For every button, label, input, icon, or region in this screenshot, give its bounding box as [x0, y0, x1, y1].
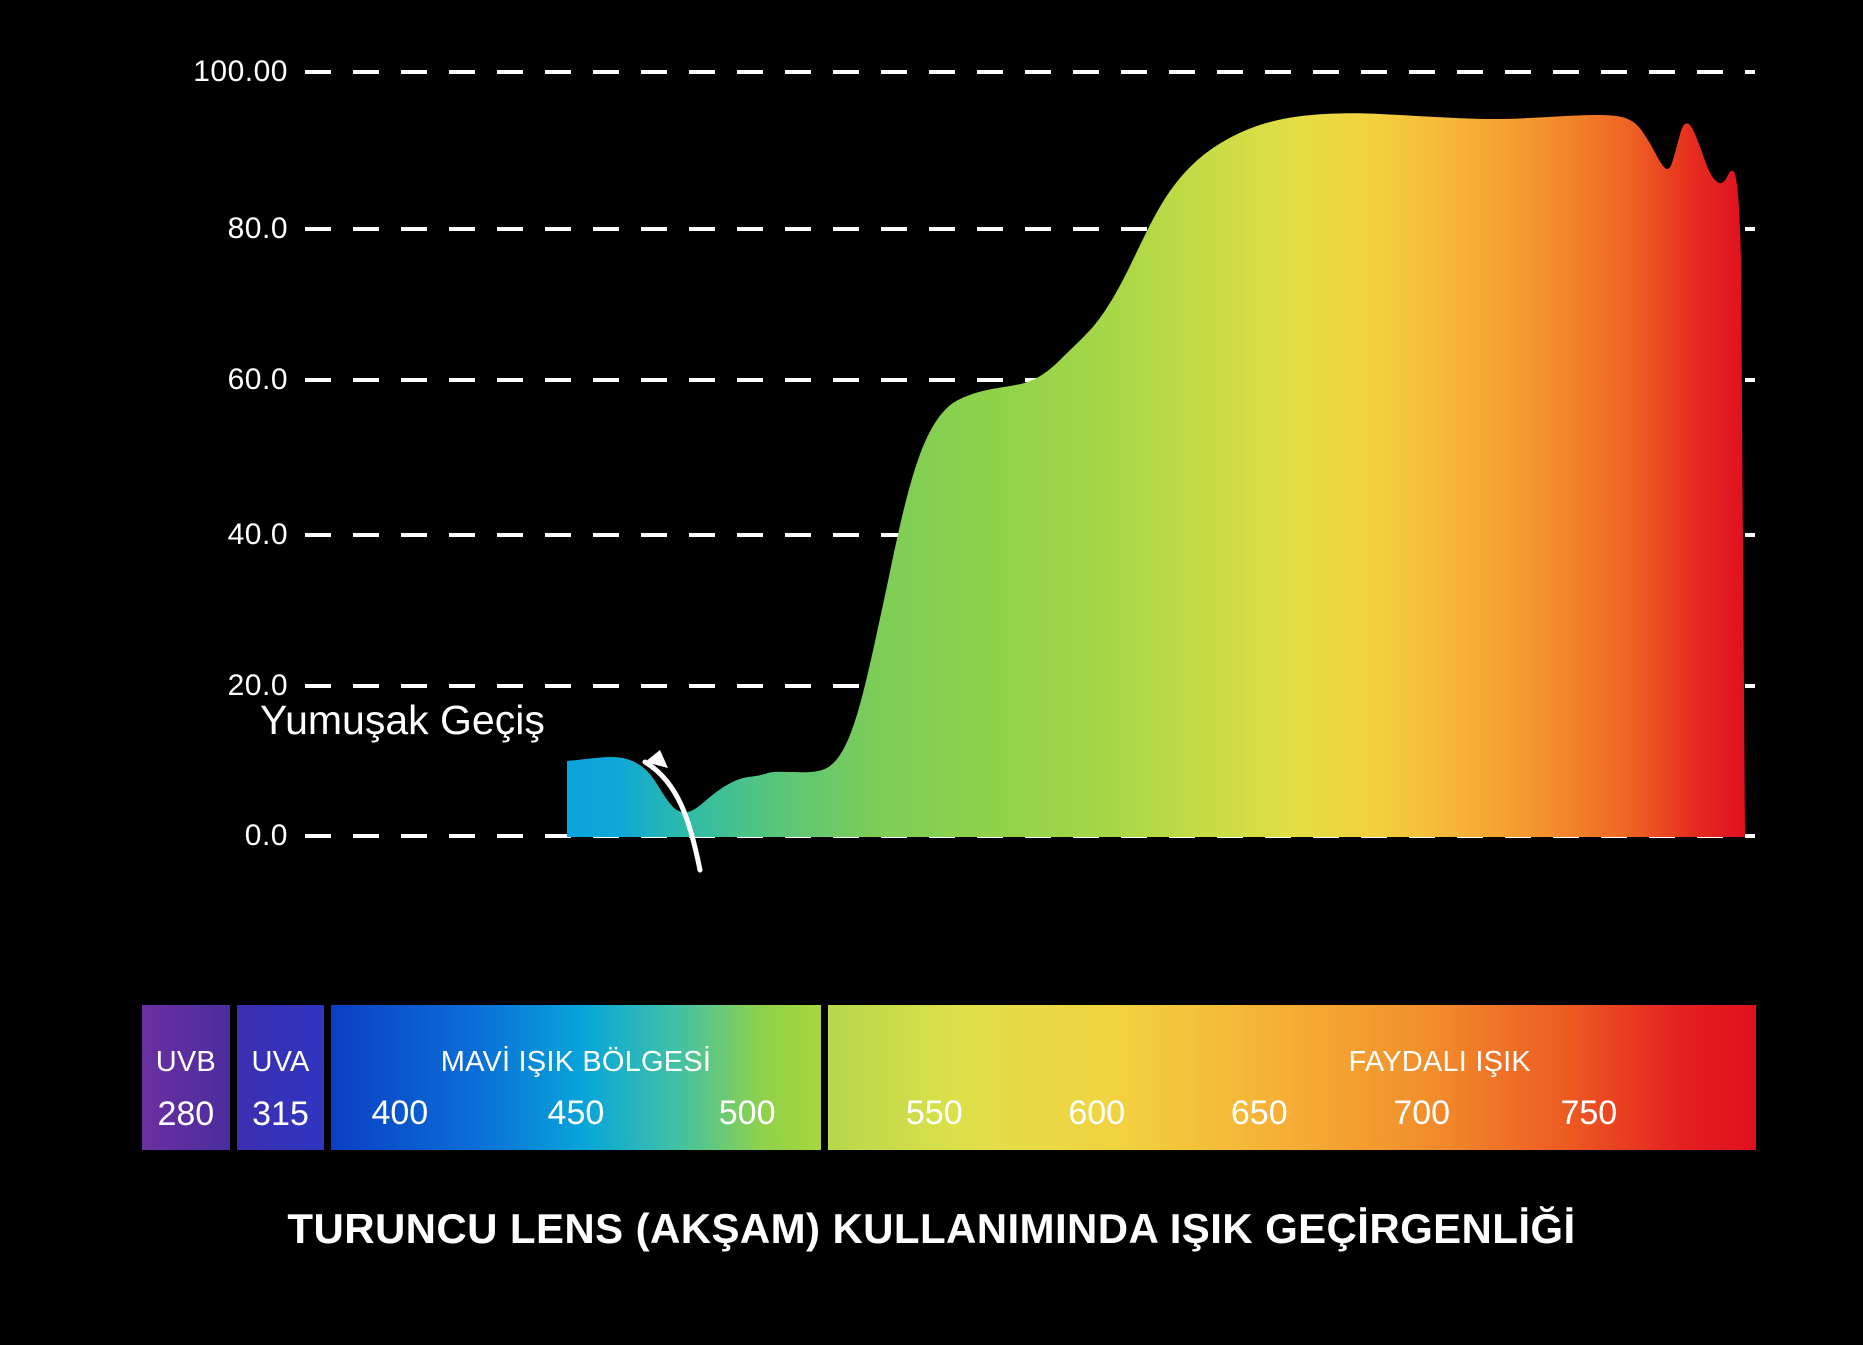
y-tick-label-100: 100.00	[193, 55, 288, 89]
y-tick-label-60: 60.0	[228, 363, 288, 397]
spectrum-tick-450: 450	[548, 1094, 605, 1133]
spectrum-band-uva-label: UVA	[237, 1046, 325, 1079]
gridline-20	[305, 684, 1755, 688]
chart-title: TURUNCU LENS (AKŞAM) KULLANIMINDA IŞIK G…	[0, 1205, 1863, 1253]
spectrum-band-uvb-value: 280	[142, 1095, 230, 1134]
spectrum-band-uva-value: 315	[237, 1095, 325, 1134]
gridline-40	[305, 533, 1755, 537]
spectrum-tick-750: 750	[1560, 1094, 1617, 1133]
y-tick-label-80: 80.0	[228, 212, 288, 246]
spectrum-band-uva[interactable]: UVA 315	[237, 1005, 325, 1150]
gridline-80	[305, 227, 1755, 231]
annotation-label-soft-transition: Yumuşak Geçiş	[260, 697, 545, 744]
spectrum-band-blue-light-label: MAVİ IŞIK BÖLGESİ	[331, 1046, 820, 1079]
spectrum-tick-650: 650	[1231, 1094, 1288, 1133]
spectrum-tick-600: 600	[1068, 1094, 1125, 1133]
soft-transition-arrow	[645, 750, 700, 870]
spectrum-band-beneficial-light-label: FAYDALI IŞIK	[976, 1046, 1757, 1079]
y-tick-label-40: 40.0	[228, 518, 288, 552]
spectrum-band-uvb[interactable]: UVB 280	[142, 1005, 230, 1150]
gridline-0	[305, 834, 1755, 838]
spectrum-band-beneficial-light-ticks: 550 600 650 700 750	[828, 1094, 1757, 1134]
spectrum-tick-400: 400	[371, 1094, 428, 1133]
spectrum-tick-550: 550	[906, 1094, 963, 1133]
gridline-100	[305, 70, 1755, 74]
spectrum-band-beneficial-light[interactable]: FAYDALI IŞIK 550 600 650 700 750	[828, 1005, 1757, 1150]
spectrum-band-blue-light[interactable]: MAVİ IŞIK BÖLGESİ 400 450 500	[331, 1005, 820, 1150]
spectrum-band-uvb-label: UVB	[142, 1046, 230, 1079]
transmission-area	[567, 113, 1745, 837]
y-tick-label-0: 0.0	[245, 819, 288, 853]
gridline-60	[305, 378, 1755, 382]
spectrum-band-blue-light-ticks: 400 450 500	[331, 1094, 820, 1134]
y-axis: 100.00 80.0 60.0 40.0 20.0 0.0	[80, 0, 288, 1000]
spectrum-tick-700: 700	[1393, 1094, 1450, 1133]
spectrum-tick-500: 500	[719, 1094, 776, 1133]
chart-root: 100.00 80.0 60.0 40.0 20.0 0.0	[0, 0, 1863, 1345]
spectrum-bar: UVB 280 UVA 315 MAVİ IŞIK BÖLGESİ 400 45…	[142, 1005, 1756, 1150]
